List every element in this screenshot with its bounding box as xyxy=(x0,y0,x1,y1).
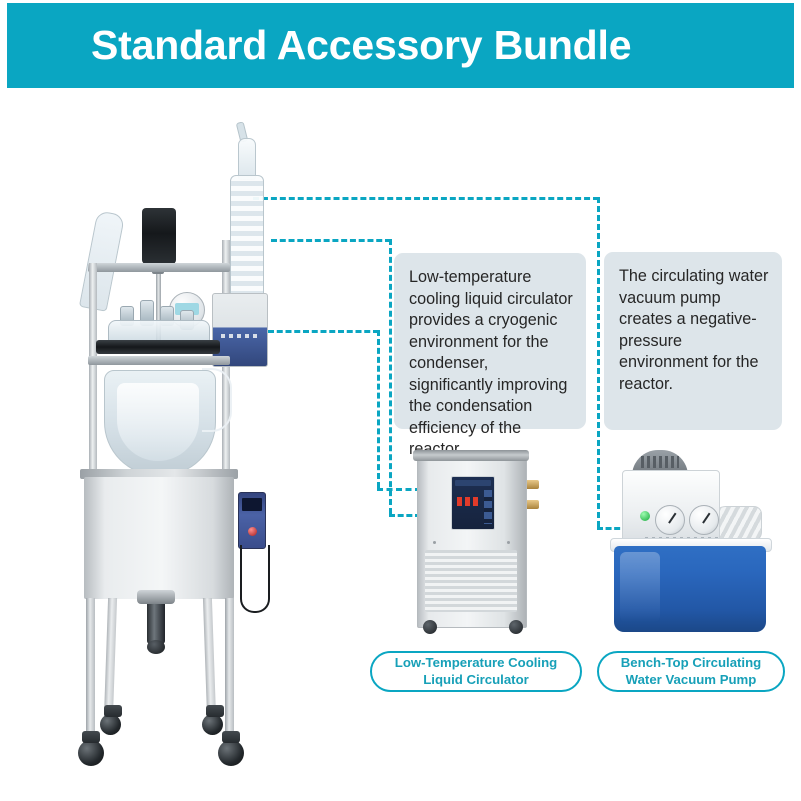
caption-chiller-line2: Liquid Circulator xyxy=(395,672,557,689)
cart-leg-back-right-icon xyxy=(203,598,216,718)
water-tank-icon xyxy=(614,546,766,632)
chiller-screw-right-icon xyxy=(507,541,510,544)
vacuum-gauge-left-icon xyxy=(655,505,685,535)
cart-display-icon xyxy=(242,498,262,511)
page-title: Standard Accessory Bundle xyxy=(91,25,631,66)
connector-pump-vertical xyxy=(597,197,600,527)
reactor-hose-icon xyxy=(202,368,232,432)
product-image-chiller xyxy=(409,446,539,638)
chiller-vent-grille-icon xyxy=(425,550,517,612)
cart-leg-front-left-icon xyxy=(86,598,95,743)
frame-post-left-icon xyxy=(89,263,97,471)
caster-front-right-icon xyxy=(218,740,244,766)
condenser-bulb-icon xyxy=(238,138,256,180)
connector-chiller-vertical-inner xyxy=(389,239,392,514)
temperature-readout-icon xyxy=(457,497,481,506)
control-module-label-icon xyxy=(221,334,259,338)
cart-leg-front-right-icon xyxy=(225,598,234,743)
caption-chiller-line1: Low-Temperature Cooling xyxy=(395,655,557,672)
frame-rail-bottom-icon xyxy=(88,356,230,365)
connector-pump-top xyxy=(253,197,599,200)
stirrer-motor-icon xyxy=(142,208,176,264)
power-indicator-icon xyxy=(640,511,650,521)
reactor-inner-vessel-icon xyxy=(117,383,199,461)
panel-keys-icon xyxy=(484,490,492,524)
frame-rail-top-icon xyxy=(88,263,230,272)
pump-head-unit-icon xyxy=(622,470,720,544)
callout-pump: The circulating water vacuum pump create… xyxy=(604,252,782,430)
cart-cabinet-icon xyxy=(84,477,234,599)
discharge-valve-icon xyxy=(147,598,165,644)
vacuum-gauge-right-icon xyxy=(689,505,719,535)
chiller-caster-right-icon xyxy=(509,620,523,634)
chiller-top-cap-icon xyxy=(413,450,529,461)
caption-pump-line1: Bench-Top Circulating xyxy=(621,655,761,672)
caster-back-right-icon xyxy=(202,714,223,735)
cart-control-panel-icon xyxy=(238,492,266,549)
product-infographic: Standard Accessory Bundle Low-temperatur… xyxy=(0,0,801,801)
power-knob-icon xyxy=(248,527,257,536)
connector-chiller-vertical-outer xyxy=(377,330,380,488)
dropping-funnel-icon xyxy=(79,210,125,312)
power-cord-icon xyxy=(240,545,270,613)
chiller-caster-left-icon xyxy=(423,620,437,634)
chiller-screw-left-icon xyxy=(433,541,436,544)
header-banner: Standard Accessory Bundle xyxy=(7,3,794,88)
cart-leg-back-left-icon xyxy=(104,598,117,718)
callout-chiller: Low-temperature cooling liquid circulato… xyxy=(394,253,586,429)
panel-header-icon xyxy=(455,480,491,486)
reactor-clamp-icon xyxy=(96,340,220,354)
chiller-control-panel-icon xyxy=(451,476,495,530)
product-image-reactor xyxy=(62,180,292,780)
caster-back-left-icon xyxy=(100,714,121,735)
caster-front-left-icon xyxy=(78,740,104,766)
caption-pump: Bench-Top Circulating Water Vacuum Pump xyxy=(597,651,785,692)
caption-pump-line2: Water Vacuum Pump xyxy=(621,672,761,689)
product-image-pump xyxy=(608,448,776,638)
caption-chiller: Low-Temperature Cooling Liquid Circulato… xyxy=(370,651,582,692)
reactor-vessel-icon xyxy=(104,370,216,476)
